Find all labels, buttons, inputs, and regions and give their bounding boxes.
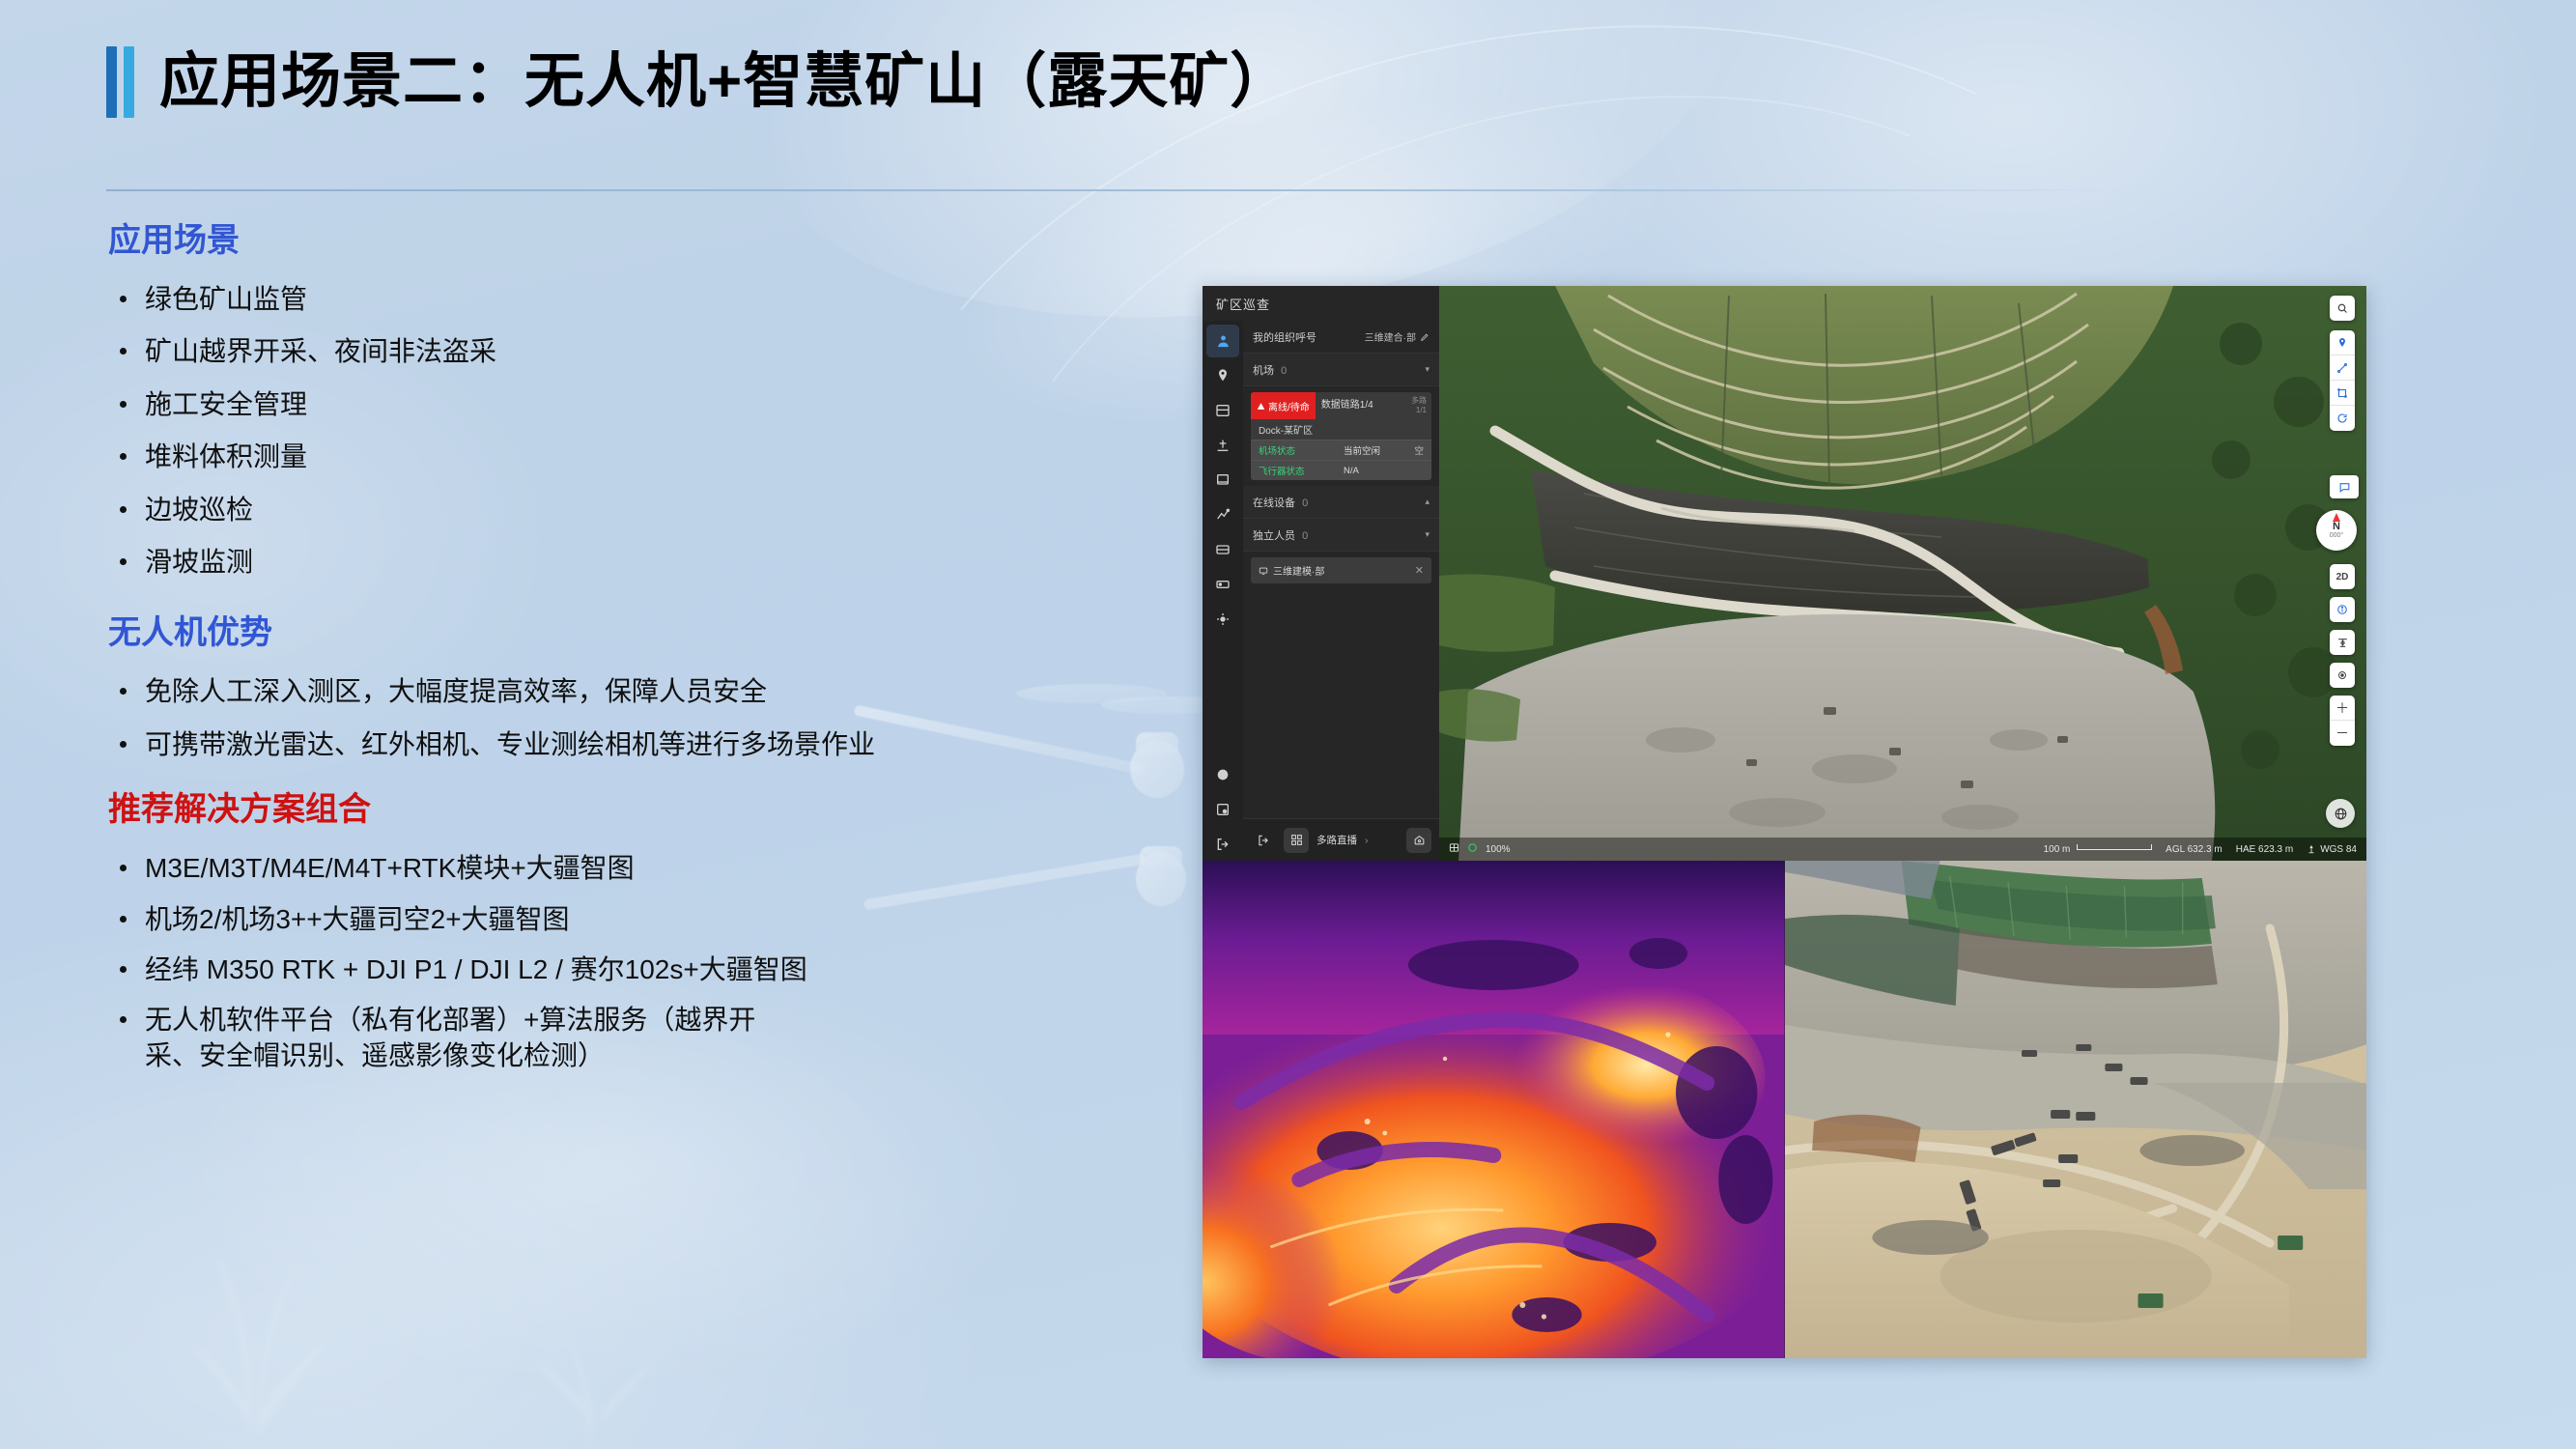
- dock-section-label-wrap: 机场 0: [1253, 362, 1287, 378]
- map-view-controls[interactable]: 2D: [2330, 564, 2355, 589]
- list-item: 免除人工深入测区，大幅度提高效率，保障人员安全: [108, 674, 1161, 709]
- map-drone-control[interactable]: [2330, 630, 2355, 655]
- status-badge: 离线/待命: [1251, 392, 1316, 419]
- compass-needle-icon: [2333, 513, 2340, 522]
- logout-icon[interactable]: [1206, 828, 1239, 861]
- device-name: 数据链路1/4: [1316, 392, 1406, 419]
- standalone-people-label-wrap: 独立人员 0: [1253, 527, 1308, 543]
- device-status-badge: 空: [1414, 443, 1424, 457]
- org-callsign-value: 三维建合·部: [1365, 329, 1416, 344]
- map-scale: 100 m: [2044, 844, 2153, 855]
- search-icon[interactable]: [2330, 296, 2355, 321]
- device-status-row: 机场状态 当前空闲 空: [1251, 440, 1431, 460]
- list-item: 经纬 M350 RTK + DJI P1 / DJI L2 / 赛尔102s+大…: [108, 952, 1161, 987]
- title-bar-secondary: [124, 46, 134, 118]
- slide-title-row: 应用场景二：无人机+智慧矿山（露天矿）: [106, 46, 1290, 118]
- device-status-key: 机场状态: [1259, 443, 1338, 457]
- device-card[interactable]: 离线/待命 数据链路1/4 多路 1/1 Dock-某矿区 机场状态 当前空闲 …: [1251, 392, 1431, 480]
- target-icon[interactable]: [2330, 663, 2355, 688]
- online-devices-label-wrap: 在线设备 0: [1253, 495, 1308, 510]
- online-devices-count: 0: [1302, 497, 1308, 509]
- list-item: 机场2/机场3++大疆司空2+大疆智图: [108, 902, 1161, 937]
- device-meta-bottom: 1/1: [1416, 406, 1427, 414]
- device-status-value: 当前空闲: [1344, 443, 1408, 457]
- chat-bubble-icon[interactable]: [2330, 475, 2359, 498]
- home-dock-icon[interactable]: [1406, 828, 1431, 853]
- map-hae: HAE 623.3 m: [2236, 844, 2293, 855]
- standalone-people-row[interactable]: 独立人员 0 ▾: [1243, 519, 1439, 552]
- compass-degrees: 000°: [2330, 532, 2343, 540]
- annotation-icon[interactable]: [1206, 429, 1239, 462]
- list-item: 堆料体积测量: [108, 440, 1161, 474]
- title-bar-primary: [106, 46, 117, 118]
- app-thumbnail-row: [1203, 861, 2366, 1358]
- app-icon-rail[interactable]: [1203, 286, 1243, 861]
- settings-icon[interactable]: [1206, 793, 1239, 826]
- section-heading-scenarios: 应用场景: [108, 224, 1161, 257]
- device-card-header: 离线/待命 数据链路1/4 多路 1/1: [1251, 392, 1431, 419]
- globe-icon[interactable]: [2326, 799, 2355, 828]
- info-icon[interactable]: [2330, 597, 2355, 622]
- map-load-percent: 100%: [1486, 844, 1511, 855]
- app-window-title: 矿区巡查: [1203, 286, 1439, 321]
- list-item: 边坡巡检: [108, 493, 1161, 527]
- grid-view-icon[interactable]: [1284, 828, 1309, 853]
- status-badge-label: 离线/待命: [1268, 399, 1310, 413]
- list-item: 绿色矿山监管: [108, 282, 1161, 317]
- app-side-panel: 我的组织呼号 三维建合·部 机场 0 ▾ 离线/待命: [1243, 286, 1439, 861]
- dock-section-label: 机场: [1253, 365, 1274, 377]
- layers-icon[interactable]: [1206, 464, 1239, 497]
- selected-tag-wrap: 三维建模·部: [1259, 563, 1324, 578]
- map-aerial-view[interactable]: N 000° 2D ＋: [1439, 286, 2366, 861]
- compass-label: N: [2333, 522, 2340, 532]
- live-feed-icon[interactable]: [1206, 603, 1239, 636]
- list-item: M3E/M3T/M4E/M4T+RTK模块+大疆智图: [108, 851, 1161, 886]
- org-callsign-label: 我的组织呼号: [1253, 329, 1316, 345]
- datum-icon: [2307, 844, 2316, 854]
- device-status-value: N/A: [1344, 466, 1418, 476]
- section-heading-solutions: 推荐解决方案组合: [108, 793, 1161, 826]
- advantage-list: 免除人工深入测区，大幅度提高效率，保障人员安全 可携带激光雷达、红外相机、专业测…: [108, 674, 1161, 762]
- aerial-imagery: [1439, 286, 2366, 861]
- page-title: 应用场景二：无人机+智慧矿山（露天矿）: [159, 52, 1290, 112]
- solution-list: M3E/M3T/M4E/M4T+RTK模块+大疆智图 机场2/机场3++大疆司空…: [108, 851, 1161, 1073]
- location-pin-icon[interactable]: [2330, 330, 2355, 355]
- map-datum: WGS 84: [2320, 844, 2357, 855]
- map-tools-control[interactable]: [2330, 330, 2355, 431]
- org-callsign-row[interactable]: 我的组织呼号 三维建合·部: [1243, 321, 1439, 354]
- pencil-icon[interactable]: [1420, 332, 1430, 342]
- close-icon[interactable]: ✕: [1415, 564, 1424, 577]
- compass-control[interactable]: N 000°: [2316, 510, 2357, 551]
- pin-drop-icon[interactable]: [1206, 359, 1239, 392]
- rgb-quarry-trucks[interactable]: [1785, 861, 2367, 1358]
- minus-icon[interactable]: －: [2330, 721, 2355, 746]
- standalone-people-count: 0: [1302, 530, 1308, 542]
- grid-icon[interactable]: [1206, 758, 1239, 791]
- device-subtitle: Dock-某矿区: [1251, 419, 1431, 440]
- list-item: 可携带激光雷达、红外相机、专业测绘相机等进行多场景作业: [108, 727, 1161, 762]
- map-search-control[interactable]: [2330, 296, 2355, 321]
- panel-bottom-bar: 多路直播 ›: [1243, 818, 1439, 861]
- chevron-down-icon[interactable]: ▾: [1425, 364, 1430, 375]
- media-library-icon[interactable]: [1206, 394, 1239, 427]
- progress-icon: [1467, 842, 1478, 856]
- measure-ruler-icon[interactable]: [2330, 355, 2355, 381]
- device-meta-top: 多路: [1411, 396, 1427, 405]
- online-devices-row[interactable]: 在线设备 0 ▴: [1243, 486, 1439, 519]
- selected-tag-row[interactable]: 三维建模·部 ✕: [1251, 557, 1431, 583]
- exit-icon[interactable]: [1251, 828, 1276, 853]
- map-status-right: 100 m AGL 632.3 m HAE 623.3 m WGS 84: [2044, 844, 2357, 855]
- flight-route-icon[interactable]: [1206, 498, 1239, 531]
- list-item: 施工安全管理: [108, 387, 1161, 422]
- section-heading-advantages: 无人机优势: [108, 616, 1161, 649]
- drone-icon[interactable]: [2330, 630, 2355, 655]
- organization-icon[interactable]: [1206, 325, 1239, 357]
- map-agl: AGL 632.3 m: [2166, 844, 2222, 855]
- content-column: 应用场景 绿色矿山监管 矿山越界开采、夜间非法盗采 施工安全管理 堆料体积测量 …: [108, 224, 1161, 1089]
- scenario-list: 绿色矿山监管 矿山越界开采、夜间非法盗采 施工安全管理 堆料体积测量 边坡巡检 …: [108, 282, 1161, 580]
- device-status-key: 飞行器状态: [1259, 464, 1338, 477]
- map-info-control[interactable]: [2330, 597, 2355, 622]
- list-item: 矿山越界开采、夜间非法盗采: [108, 334, 1161, 369]
- thermal-ir-quarry[interactable]: [1203, 861, 1785, 1358]
- alert-icon: [1257, 402, 1265, 411]
- org-callsign-value-wrap[interactable]: 三维建合·部: [1365, 329, 1430, 344]
- multiview-chevron[interactable]: ›: [1365, 835, 1369, 846]
- map-datum-wrap: WGS 84: [2307, 844, 2357, 855]
- device-panel-icon[interactable]: [1206, 568, 1239, 601]
- map-zoom-control[interactable]: ＋ －: [2330, 696, 2355, 746]
- monitor-icon: [1259, 566, 1268, 576]
- refresh-icon[interactable]: [2330, 406, 2355, 431]
- layers-icon[interactable]: [1449, 842, 1459, 856]
- app-main-area: 我的组织呼号 三维建合·部 机场 0 ▾ 离线/待命: [1203, 286, 2366, 861]
- device-status-row: 飞行器状态 N/A: [1251, 460, 1431, 480]
- map-scale-bar: [2077, 844, 2152, 850]
- plus-icon[interactable]: ＋: [2330, 696, 2355, 721]
- thermal-image: [1203, 861, 1785, 1358]
- standalone-people-label: 独立人员: [1253, 530, 1295, 542]
- quarry-photo: [1785, 861, 2367, 1358]
- selected-tag-label: 三维建模·部: [1273, 563, 1324, 578]
- online-devices-label: 在线设备: [1253, 497, 1295, 509]
- map-target-control[interactable]: [2330, 663, 2355, 688]
- device-meta: 多路 1/1: [1406, 392, 1431, 419]
- list-item: 无人机软件平台（私有化部署）+算法服务（越界开采、安全帽识别、遥感影像变化检测）: [108, 1003, 784, 1073]
- title-accent-bars: [106, 46, 134, 118]
- airport-icon[interactable]: [1206, 533, 1239, 566]
- map-status-bar: 100% 100 m AGL 632.3 m HAE 623.3 m WGS 8…: [1439, 838, 2366, 861]
- multiview-label[interactable]: 多路直播: [1316, 833, 1357, 847]
- app-screenshot: 矿区巡查: [1203, 286, 2366, 1358]
- dock-section-count: 0: [1281, 365, 1287, 377]
- list-item: 滑坡监测: [108, 545, 1161, 580]
- dock-section-row[interactable]: 机场 0 ▾: [1243, 354, 1439, 386]
- plant-silhouette-left: [58, 1159, 464, 1449]
- chevron-down-icon[interactable]: ▾: [1425, 529, 1430, 540]
- plant-silhouette-right: [406, 1207, 773, 1449]
- view-mode-2d-button[interactable]: 2D: [2330, 564, 2355, 589]
- title-divider: [106, 189, 2125, 191]
- area-crop-icon[interactable]: [2330, 381, 2355, 406]
- chevron-up-icon[interactable]: ▴: [1425, 497, 1430, 507]
- map-scale-label: 100 m: [2044, 844, 2071, 855]
